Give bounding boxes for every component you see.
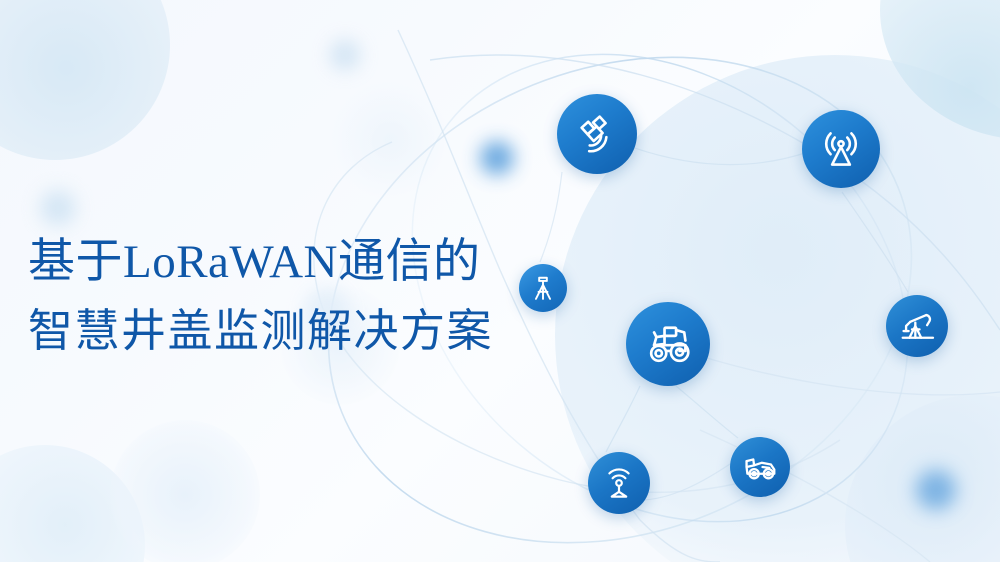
tractor-glyph: [651, 328, 688, 361]
satellite-icon[interactable]: [557, 94, 637, 174]
orbit-connector-tower-oil: [842, 192, 908, 292]
soft-circle-top-right-wedge: [880, 0, 1000, 140]
orbit-connector-sensor-harvester: [640, 464, 730, 500]
orbit-arc-midright: [700, 356, 1000, 395]
wifi-sensor-icon[interactable]: [588, 452, 650, 514]
orbit-connector-tractor-sensor: [606, 386, 640, 452]
oil-pumpjack-icon[interactable]: [886, 295, 948, 357]
soft-circle-bottom-left: [110, 420, 260, 562]
soft-circle-right-bottom: [845, 395, 1000, 562]
orbit-connector-tractor-harvester: [676, 386, 738, 438]
orbit-connector-satellite-tower: [626, 145, 808, 165]
soft-circle-mid-right: [330, 80, 450, 200]
wifi-sensor-glyph: [609, 469, 628, 496]
pumpjack-glyph: [903, 315, 933, 338]
title-line-2: 智慧井盖监测解决方案: [28, 298, 588, 365]
slide-canvas: 基于LoRaWAN通信的 智慧井盖监测解决方案: [0, 0, 1000, 562]
glow-dot-lower-right: [916, 470, 956, 510]
radio-tower-icon[interactable]: [802, 110, 880, 188]
harvester-vehicle-icon[interactable]: [730, 437, 790, 497]
satellite-glyph: [582, 117, 607, 152]
harvester-glyph: [747, 459, 775, 478]
title-line-1: 基于LoRaWAN通信的: [28, 228, 588, 298]
glow-dot-upper-mid: [480, 141, 514, 175]
tractor-icon[interactable]: [626, 302, 710, 386]
radio-tower-glyph: [826, 133, 856, 164]
glow-dot-left-top: [330, 40, 360, 70]
soft-circle-left-lower: [0, 445, 145, 562]
glow-dot-left-mid: [40, 190, 76, 226]
page-title: 基于LoRaWAN通信的 智慧井盖监测解决方案: [28, 228, 588, 364]
soft-circle-top-left: [0, 0, 170, 160]
